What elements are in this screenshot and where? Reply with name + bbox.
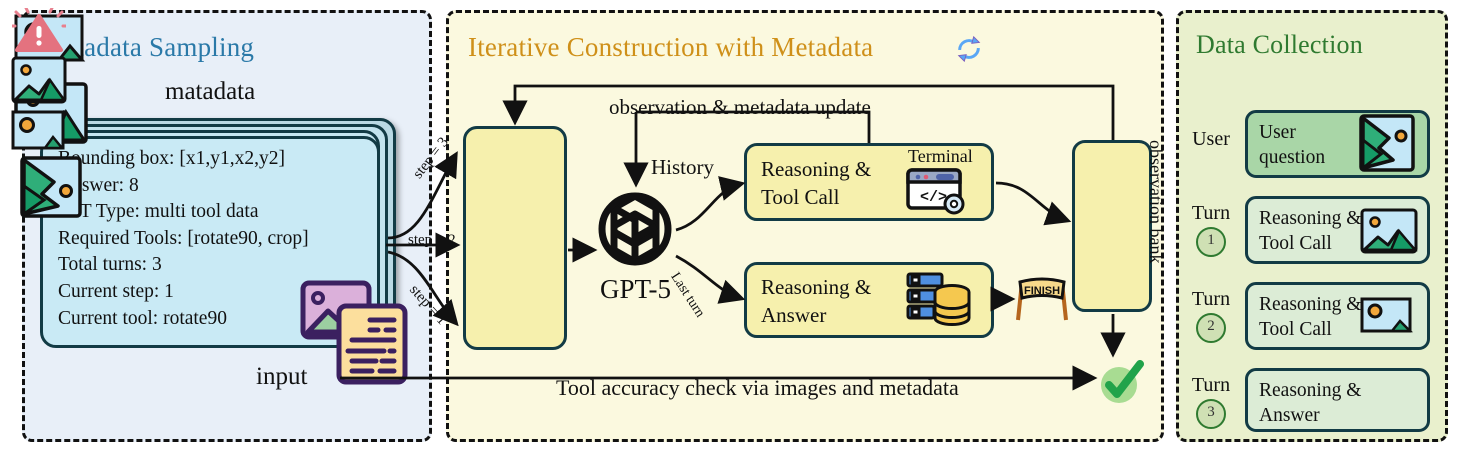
input-label: input (256, 363, 307, 391)
image-mountain-icon (1360, 208, 1418, 254)
box-tool-call-text: Reasoning &Tool Call (761, 155, 871, 211)
database-icon (906, 272, 972, 328)
recycle-icon (954, 34, 984, 64)
row-label-user: User (1180, 128, 1242, 150)
finish-label: FINISH (1024, 285, 1060, 297)
openai-logo-icon (592, 186, 678, 272)
row-label-turn-3: Turn 3 (1180, 374, 1242, 429)
data-row-text: Reasoning &Tool Call (1259, 206, 1361, 256)
panel-title-data-collection: Data Collection (1196, 30, 1363, 60)
step-label-2: step = 2 (408, 232, 456, 249)
pipeline-diagram: Metadata Sampling Iterative Construction… (0, 0, 1464, 451)
turn-badge-1: 1 (1196, 227, 1226, 257)
finish-flag-icon: FINISH (1012, 274, 1072, 322)
row-label-turn-2: Turn 2 (1180, 288, 1242, 343)
panel-title-iterative-construction: Iterative Construction with Metadata (468, 32, 873, 63)
metadata-field-answer: Answer: 8 (58, 173, 378, 200)
success-check-icon (1098, 360, 1144, 406)
metadata-field-sft-type: SFT Type: multi tool data (58, 199, 378, 226)
image-crop-icon (1360, 297, 1416, 337)
data-row-text: Reasoning &Answer (1259, 378, 1361, 428)
warning-icon (12, 8, 66, 52)
image-rotated-icon (14, 156, 88, 218)
data-row-text: Reasoning &Tool Call (1259, 292, 1361, 342)
metadata-field-total-turns: Total turns: 3 (58, 252, 378, 279)
metadata-field-bounding-box: Bounding box: [x1,y1,x2,y2] (58, 146, 378, 173)
terminal-label: Terminal (908, 146, 973, 167)
turn-badge-2: 2 (1196, 313, 1226, 343)
svg-text:</>: </> (920, 189, 947, 206)
image-circle-icon (11, 110, 67, 154)
observation-update-label: observation & metadata update (609, 95, 871, 120)
box-answer-text: Reasoning &Answer (761, 273, 871, 329)
terminal-icon: </> (906, 168, 968, 216)
turn-badge-3: 3 (1196, 399, 1226, 429)
metadata-field-required-tools: Required Tools: [rotate90, crop] (58, 226, 378, 253)
observation-bank (1072, 140, 1152, 312)
sampled-image-stack (463, 126, 567, 350)
observation-bank-label: observation bank (1142, 140, 1166, 315)
image-rotated-icon (1355, 114, 1417, 172)
image-mountain-icon (11, 56, 67, 104)
history-label: History (651, 155, 714, 180)
tool-accuracy-check-label: Tool accuracy check via images and metad… (556, 375, 959, 401)
data-row-text: Userquestion (1259, 120, 1325, 170)
data-row-turn-3[interactable]: Reasoning &Answer (1245, 368, 1430, 432)
document-icon (336, 303, 408, 385)
metadata-stack-label: matadata (165, 78, 255, 106)
model-label: GPT-5 (600, 274, 671, 305)
row-label-turn-1: Turn 1 (1180, 202, 1242, 257)
